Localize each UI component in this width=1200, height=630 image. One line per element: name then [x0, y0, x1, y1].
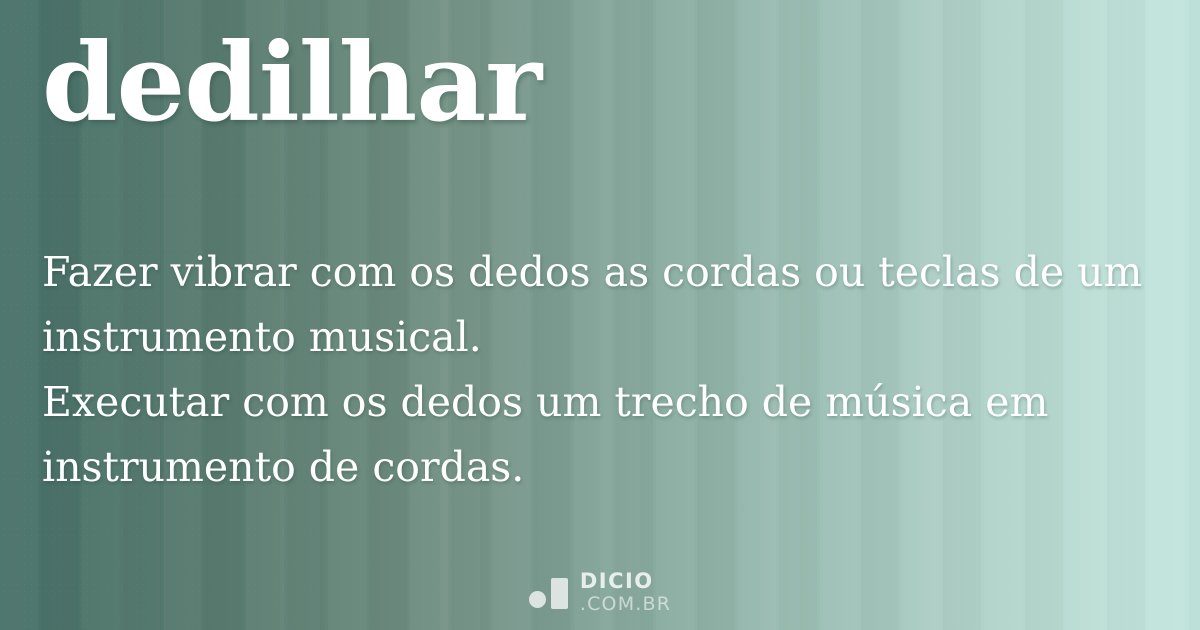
logo-mark: [529, 577, 568, 609]
definition-item: Fazer vibrar com os dedos as cordas ou t…: [42, 240, 1160, 370]
logo-domain-suffix: .COM.BR: [580, 595, 671, 614]
site-logo: DICIO .COM.BR: [0, 571, 1200, 614]
logo-wordmark: DICIO .COM.BR: [580, 571, 671, 614]
card-content: dedilhar Fazer vibrar com os dedos as co…: [0, 0, 1200, 630]
word-share-card: dedilhar Fazer vibrar com os dedos as co…: [0, 0, 1200, 630]
page-title: dedilhar: [42, 18, 541, 150]
definition-item: Executar com os dedos um trecho de músic…: [42, 370, 1160, 500]
circle-icon: [529, 591, 546, 608]
definition-list: Fazer vibrar com os dedos as cordas ou t…: [42, 240, 1160, 500]
rounded-rect-icon: [551, 578, 568, 609]
logo-name: DICIO: [580, 571, 671, 592]
